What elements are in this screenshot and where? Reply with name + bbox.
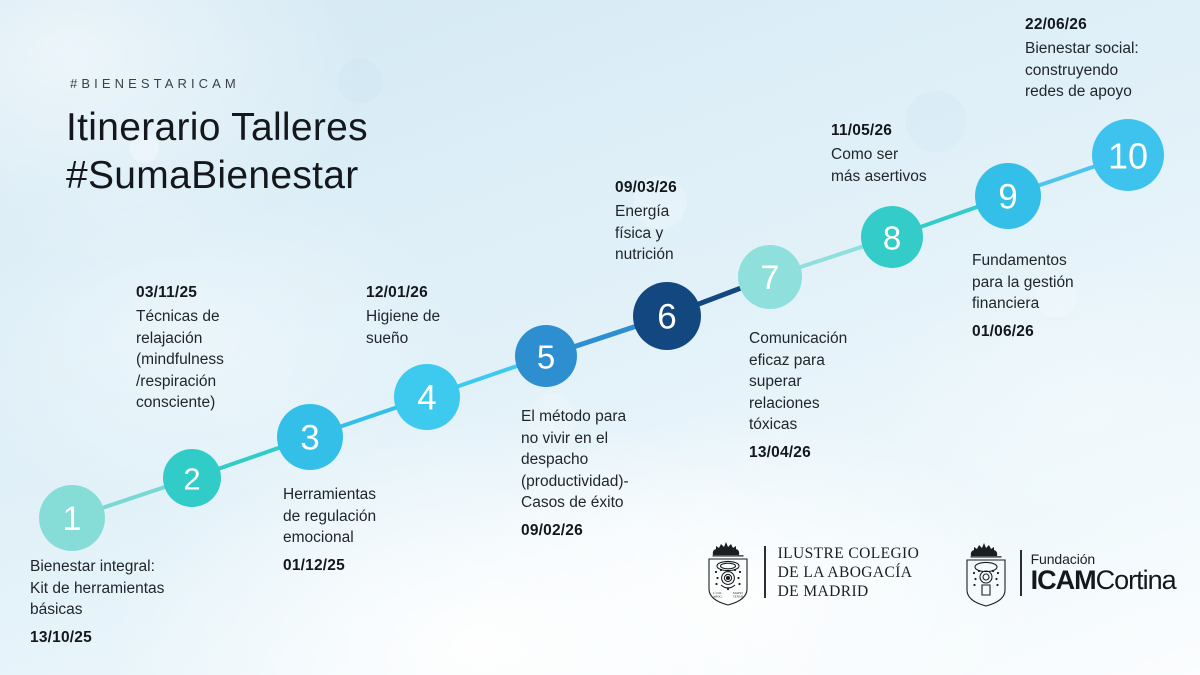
icam-logo-divider: [764, 546, 766, 598]
svg-text:TENSIS: TENSIS: [733, 595, 744, 599]
workshop-title-line: Higiene de: [366, 306, 536, 328]
fundacion-word: Fundación: [1031, 552, 1176, 566]
workshop-title-line: financiera: [972, 293, 1162, 315]
timeline-label-1: Bienestar integral:Kit de herramientasbá…: [30, 556, 245, 648]
timeline-label-8: 11/05/26Como sermás asertivos: [831, 120, 1006, 187]
workshop-title-line: Como ser: [831, 144, 1006, 166]
node-number-10: 10: [1108, 136, 1148, 177]
node-number-8: 8: [883, 220, 901, 257]
workshop-title-line: Herramientas: [283, 484, 473, 506]
icam-logo: I. COL. ABOG. MATRI TENSIS ILUSTRE COLEG…: [700, 537, 919, 607]
timeline-node-10[interactable]: 10: [1092, 119, 1164, 191]
node-number-1: 1: [63, 500, 82, 538]
timeline-label-9: Fundamentospara la gestiónfinanciera01/0…: [972, 250, 1162, 342]
workshop-title-line: despacho: [521, 449, 711, 471]
workshop-date-10: 22/06/26: [1025, 14, 1200, 35]
timeline-label-5: El método parano vivir en eldespacho(pro…: [521, 406, 711, 541]
workshop-title-line: Bienestar social:: [1025, 38, 1200, 60]
timeline-node-2[interactable]: 2: [163, 449, 221, 507]
workshop-title-4: Higiene desueño: [366, 306, 536, 349]
icam-text-line-2: DE LA ABOGACÍA: [778, 563, 920, 582]
workshop-title-line: (productividad)-: [521, 471, 711, 493]
workshop-title-line: relajación: [136, 328, 316, 350]
logo-bar: I. COL. ABOG. MATRI TENSIS ILUSTRE COLEG…: [700, 533, 1190, 613]
workshop-title-line: no vivir en el: [521, 428, 711, 450]
node-number-4: 4: [417, 379, 436, 418]
node-number-2: 2: [183, 462, 200, 497]
timeline-label-2: 03/11/25Técnicas derelajación(mindfulnes…: [136, 282, 316, 414]
workshop-title-1: Bienestar integral:Kit de herramientasbá…: [30, 556, 245, 621]
workshop-title-line: de regulación: [283, 506, 473, 528]
workshop-title-line: (mindfulness: [136, 349, 316, 371]
timeline-label-7: Comunicacióneficaz parasuperarrelaciones…: [749, 328, 924, 463]
icam-cortina-wordmark: ICAMCortina: [1031, 567, 1176, 594]
workshop-title-line: Casos de éxito: [521, 492, 711, 514]
workshop-title-line: emocional: [283, 527, 473, 549]
icam-text-line-1: ILUSTRE COLEGIO: [778, 544, 920, 563]
workshop-title-line: consciente): [136, 392, 316, 414]
workshop-date-4: 12/01/26: [366, 282, 536, 303]
icam-text-line-3: DE MADRID: [778, 582, 920, 601]
fundacion-crest-icon: [958, 538, 1014, 608]
workshop-title-5: El método parano vivir en eldespacho(pro…: [521, 406, 711, 514]
timeline-node-4[interactable]: 4: [394, 364, 460, 430]
workshop-title-line: redes de apoyo: [1025, 81, 1200, 103]
workshop-date-6: 09/03/26: [615, 177, 775, 198]
timeline-node-8[interactable]: 8: [861, 206, 923, 268]
workshop-title-line: superar: [749, 371, 924, 393]
timeline-label-10: 22/06/26Bienestar social:construyendored…: [1025, 14, 1200, 103]
workshop-title-line: Fundamentos: [972, 250, 1162, 272]
workshop-title-line: Energía: [615, 201, 775, 223]
workshop-date-1: 13/10/25: [30, 627, 245, 648]
workshop-title-line: Técnicas de: [136, 306, 316, 328]
workshop-title-line: nutrición: [615, 244, 775, 266]
workshop-title-line: más asertivos: [831, 166, 1006, 188]
cortina-wordmark-light: Cortina: [1096, 565, 1176, 595]
fundacion-logo-divider: [1020, 550, 1022, 596]
workshop-title-line: para la gestión: [972, 272, 1162, 294]
icam-wordmark-bold: ICAM: [1031, 565, 1096, 595]
fundacion-logo-text: Fundación ICAMCortina: [1031, 552, 1176, 594]
workshop-title-line: básicas: [30, 599, 245, 621]
workshop-title-line: El método para: [521, 406, 711, 428]
workshop-title-7: Comunicacióneficaz parasuperarrelaciones…: [749, 328, 924, 436]
workshop-date-2: 03/11/25: [136, 282, 316, 303]
workshop-title-line: relaciones: [749, 393, 924, 415]
node-number-3: 3: [300, 419, 319, 458]
svg-text:ABOG.: ABOG.: [713, 595, 723, 599]
workshop-date-9: 01/06/26: [972, 321, 1162, 342]
workshop-title-2: Técnicas derelajación(mindfulness/respir…: [136, 306, 316, 414]
workshop-date-8: 11/05/26: [831, 120, 1006, 141]
workshop-title-line: física y: [615, 223, 775, 245]
workshop-title-10: Bienestar social:construyendoredes de ap…: [1025, 38, 1200, 103]
workshop-title-line: sueño: [366, 328, 536, 350]
workshop-date-3: 01/12/25: [283, 555, 473, 576]
workshop-title-line: tóxicas: [749, 414, 924, 436]
workshop-title-line: construyendo: [1025, 60, 1200, 82]
timeline-node-6[interactable]: 6: [633, 282, 701, 350]
timeline-label-6: 09/03/26Energíafísica ynutrición: [615, 177, 775, 266]
workshop-date-7: 13/04/26: [749, 442, 924, 463]
workshop-title-line: /respiración: [136, 371, 316, 393]
icam-logo-text: ILUSTRE COLEGIO DE LA ABOGACÍA DE MADRID: [778, 544, 920, 601]
workshop-title-line: eficaz para: [749, 350, 924, 372]
icam-crest-icon: I. COL. ABOG. MATRI TENSIS: [700, 537, 756, 607]
workshop-title-line: Comunicación: [749, 328, 924, 350]
timeline-label-3: Herramientasde regulaciónemocional01/12/…: [283, 484, 473, 576]
workshop-title-9: Fundamentospara la gestiónfinanciera: [972, 250, 1162, 315]
timeline-node-1[interactable]: 1: [39, 485, 105, 551]
infographic-canvas: #BIENESTARICAM Itinerario Talleres #Suma…: [0, 0, 1200, 675]
workshop-title-8: Como sermás asertivos: [831, 144, 1006, 187]
workshop-title-3: Herramientasde regulaciónemocional: [283, 484, 473, 549]
fundacion-icam-cortina-logo: Fundación ICAMCortina: [958, 538, 1176, 608]
timeline-label-4: 12/01/26Higiene desueño: [366, 282, 536, 349]
workshop-date-5: 09/02/26: [521, 520, 711, 541]
workshop-title-line: Bienestar integral:: [30, 556, 245, 578]
timeline-node-3[interactable]: 3: [277, 404, 343, 470]
workshop-title-line: Kit de herramientas: [30, 578, 245, 600]
node-number-5: 5: [537, 339, 555, 376]
node-number-6: 6: [657, 298, 676, 337]
workshop-title-6: Energíafísica ynutrición: [615, 201, 775, 266]
